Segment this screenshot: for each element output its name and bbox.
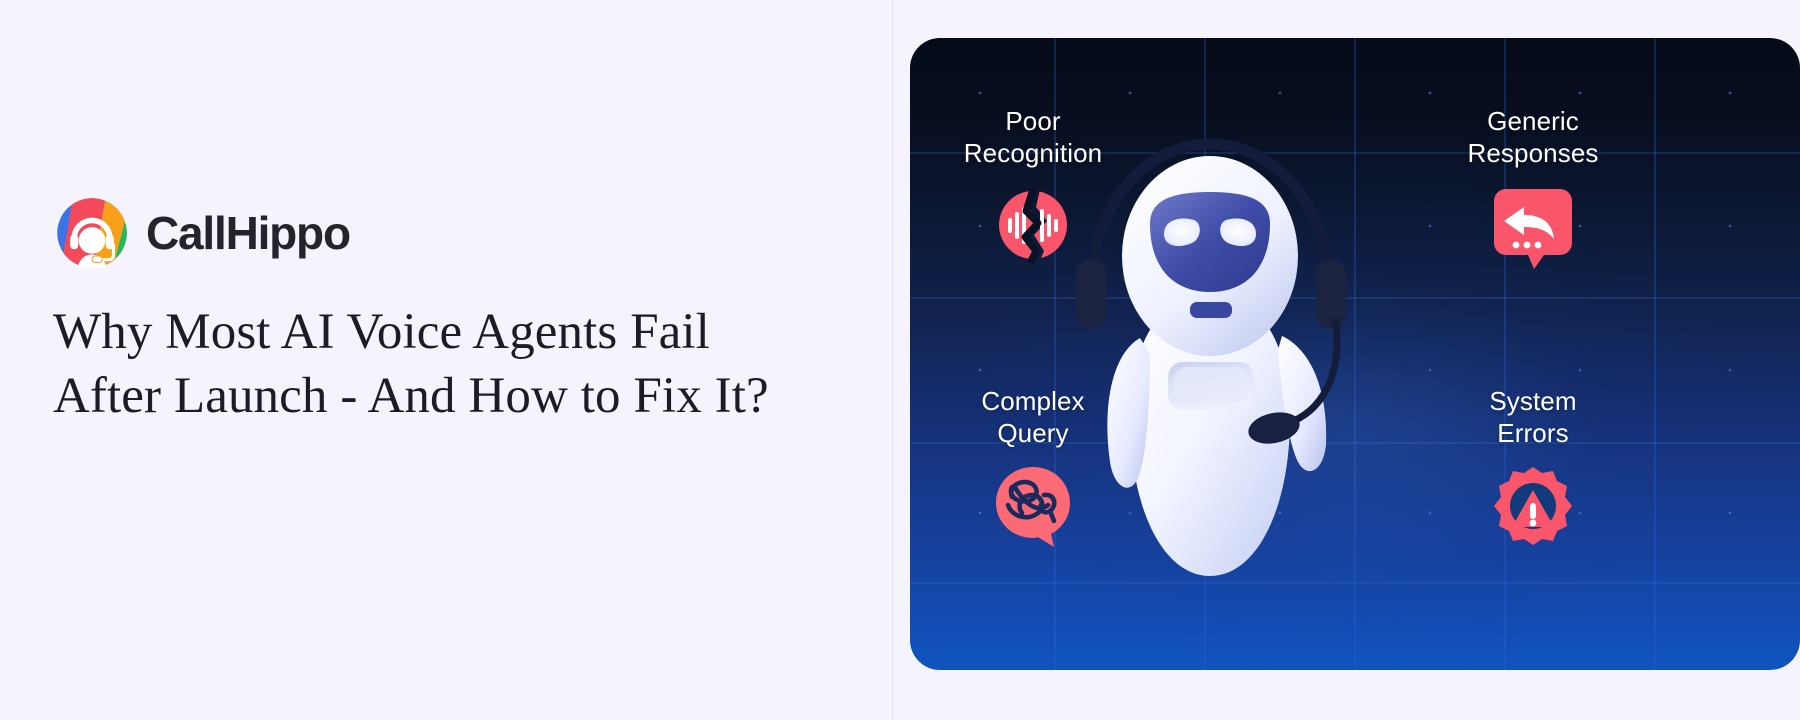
tag-generic-responses: Generic Responses — [1433, 106, 1633, 269]
vertical-divider — [892, 0, 893, 720]
callhippo-headset-logo-icon — [55, 196, 129, 270]
reply-arrow-speech-bubble-icon — [1494, 185, 1572, 269]
tag-system-errors-line1: System — [1433, 386, 1633, 418]
tag-poor-recognition-line1: Poor — [933, 106, 1133, 138]
tag-complex-query-line1: Complex — [933, 386, 1133, 418]
tag-generic-responses-line2: Responses — [1433, 138, 1633, 170]
page-title: Why Most AI Voice Agents Fail After Laun… — [53, 300, 813, 429]
tag-system-errors: System Errors — [1433, 386, 1633, 547]
tag-poor-recognition: Poor Recognition — [933, 106, 1133, 265]
tag-system-errors-line2: Errors — [1433, 418, 1633, 450]
hero-banner: CallHippo Why Most AI Voice Agents Fail … — [0, 0, 1800, 720]
tag-complex-query: Complex Query — [933, 386, 1133, 547]
brand-lockup[interactable]: CallHippo — [55, 196, 350, 270]
broken-soundwave-icon — [992, 185, 1074, 265]
tag-poor-recognition-line2: Recognition — [933, 138, 1133, 170]
tag-generic-responses-line1: Generic — [1433, 106, 1633, 138]
headline-line-2: After Launch - And How to Fix It? — [53, 364, 813, 428]
left-content-pane: CallHippo Why Most AI Voice Agents Fail … — [0, 0, 893, 720]
tag-complex-query-line2: Query — [933, 418, 1133, 450]
gear-warning-triangle-icon — [1492, 465, 1574, 547]
illustration-panel: Poor Recognition — [910, 38, 1800, 670]
tangled-scribble-speech-bubble-icon — [994, 465, 1072, 547]
brand-name: CallHippo — [146, 210, 350, 256]
headline-line-1: Why Most AI Voice Agents Fail — [53, 300, 813, 364]
